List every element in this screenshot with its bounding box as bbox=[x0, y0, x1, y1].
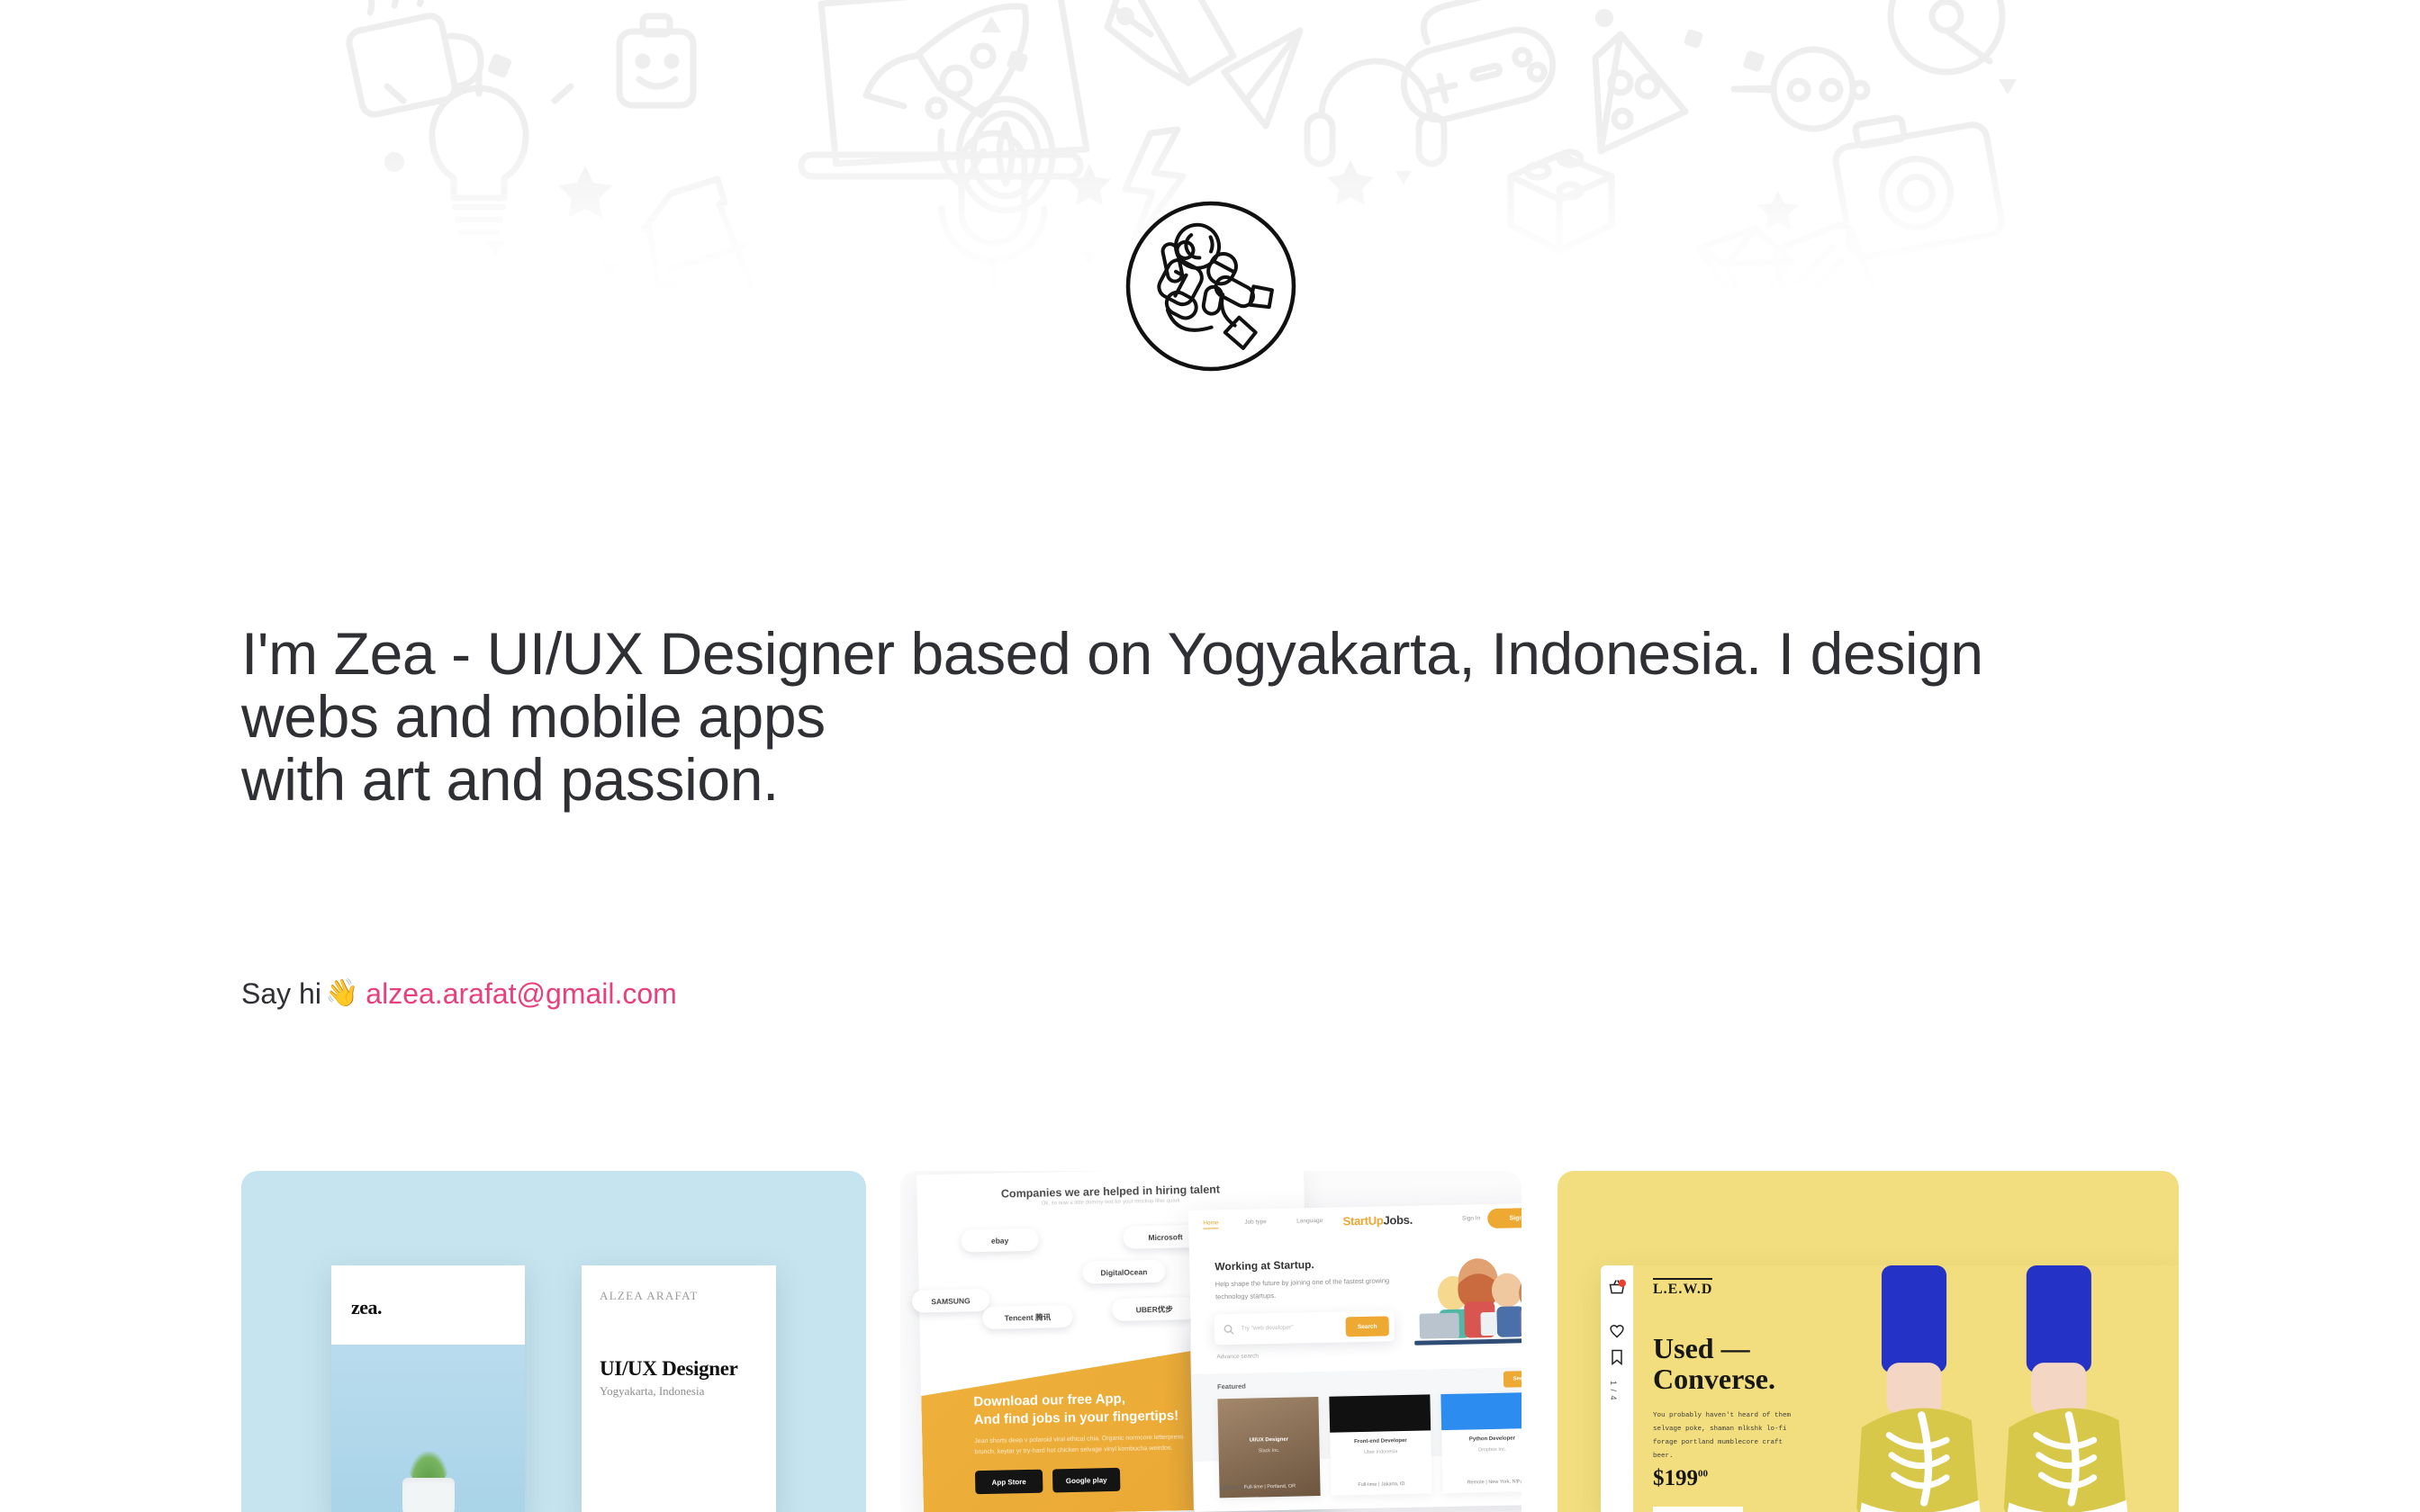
email-link[interactable]: alzea.arafat@gmail.com bbox=[366, 979, 677, 1008]
project-card-branding[interactable]: zea. ALZEA ARAFAT UI/UX Designer Yogyaka… bbox=[241, 1171, 866, 1512]
product-price: $19900 bbox=[1653, 1466, 1708, 1491]
card-location: Yogyakarta, Indonesia bbox=[600, 1384, 704, 1399]
business-card-front: zea. bbox=[331, 1265, 525, 1512]
logo-pill-samsung: SAMSUNG bbox=[912, 1289, 990, 1313]
job-meta: Full-time | Jakarta, ID bbox=[1331, 1480, 1431, 1488]
price-amount: $199 bbox=[1653, 1466, 1698, 1490]
nav-language[interactable]: Language bbox=[1296, 1218, 1323, 1225]
logo-pill-tencent: Tencent 腾讯 bbox=[982, 1305, 1073, 1329]
plant-photo bbox=[331, 1345, 525, 1512]
see-more-button[interactable]: See More bbox=[1503, 1371, 1522, 1388]
price-cents: 00 bbox=[1698, 1469, 1708, 1480]
google-play-button[interactable]: Google play bbox=[1052, 1468, 1121, 1493]
store-brand: L.E.W.D bbox=[1653, 1278, 1712, 1298]
search-button[interactable]: Search bbox=[1346, 1316, 1389, 1336]
search-icon bbox=[1224, 1324, 1234, 1335]
store-hero-stage: L.E.W.D Used — Converse. You probably ha… bbox=[1633, 1265, 2179, 1512]
compass-icon bbox=[959, 99, 1052, 211]
heart-icon[interactable] bbox=[1608, 1321, 1626, 1339]
pizza-icon bbox=[1595, 34, 1685, 151]
page-title: I'm Zea - UI/UX Designer based on Yogyak… bbox=[241, 623, 2042, 812]
plant-leaves bbox=[409, 1451, 448, 1481]
download-heading: Download our free App, And find jobs in … bbox=[973, 1389, 1208, 1430]
job-company: Uber Indonesia bbox=[1331, 1448, 1431, 1455]
lego-head-icon bbox=[619, 16, 693, 105]
converse-shoes-photo bbox=[1804, 1265, 2179, 1512]
advance-search-toggle[interactable]: Advance search bbox=[1216, 1353, 1259, 1360]
lightbulb-icon bbox=[387, 74, 571, 232]
pencil-icon bbox=[1107, 0, 1233, 83]
store-side-rail: 1 / 4 bbox=[1601, 1265, 1633, 1512]
nav-job-type[interactable]: Job type bbox=[1244, 1219, 1267, 1226]
business-card-back: ALZEA ARAFAT UI/UX Designer Yogyakarta, … bbox=[582, 1265, 776, 1512]
microphone-icon bbox=[942, 133, 1044, 290]
pacman-icon bbox=[1734, 49, 1867, 129]
smartphone-icon bbox=[1770, 221, 1897, 297]
job-thumbnail bbox=[1329, 1394, 1431, 1432]
store-browser-window: 1 / 4 L.E.W.D Used — Converse. You proba… bbox=[1601, 1265, 2179, 1512]
logo-pill-uber: UBER优步 bbox=[1112, 1297, 1197, 1321]
project-card-lewd-store[interactable]: 1 / 4 L.E.W.D Used — Converse. You proba… bbox=[1558, 1171, 2179, 1512]
job-meta: Remote | New York, NY bbox=[1442, 1479, 1522, 1486]
site-logo-a: StartUp bbox=[1342, 1213, 1383, 1228]
astronaut-logo[interactable] bbox=[1124, 200, 1297, 373]
brand-mark: zea. bbox=[351, 1296, 382, 1319]
paper-plane-icon bbox=[1224, 31, 1300, 126]
portfolio-page: I'm Zea - UI/UX Designer based on Yogyak… bbox=[0, 0, 2420, 1512]
job-company: Dropbox Inc. bbox=[1442, 1446, 1522, 1453]
job-card[interactable]: Python Developer Dropbox Inc. Remote | N… bbox=[1440, 1392, 1522, 1493]
nav-home[interactable]: Home bbox=[1203, 1219, 1219, 1228]
team-illustration bbox=[1413, 1255, 1522, 1347]
add-to-cart-button[interactable]: ADD TO CART bbox=[1653, 1507, 1743, 1512]
job-title: Front-end Developer bbox=[1330, 1437, 1431, 1444]
popular-jobs-filter[interactable]: Popular jobs bbox=[1516, 1479, 1522, 1486]
featured-label: Featured bbox=[1217, 1382, 1246, 1391]
project-card-grid: zea. ALZEA ARAFAT UI/UX Designer Yogyaka… bbox=[0, 1171, 2420, 1512]
project-card-startupjobs[interactable]: Companies we are helped in hiring talent… bbox=[900, 1171, 1522, 1512]
headphones-icon bbox=[1307, 61, 1444, 164]
flask-icon bbox=[644, 179, 761, 297]
site-logo-b: Jobs. bbox=[1383, 1213, 1413, 1228]
gamepad-icon bbox=[1396, 0, 1560, 127]
job-thumbnail bbox=[1440, 1392, 1522, 1430]
lego-brick-icon bbox=[1511, 152, 1612, 250]
waving-hand-icon: 👋 bbox=[325, 980, 358, 1007]
site-hero-body: Help shape the future by joining one of … bbox=[1215, 1274, 1423, 1304]
laptop-icon bbox=[801, 0, 1103, 190]
sign-in-link[interactable]: Sign In bbox=[1462, 1215, 1480, 1221]
contact-line: Say hi 👋 alzea.arafat@gmail.com bbox=[241, 979, 677, 1008]
logo-pill-digitalocean: DigitalOcean bbox=[1082, 1260, 1166, 1284]
bookmark-icon[interactable] bbox=[1608, 1348, 1626, 1366]
product-description: You probably haven't heard of them selva… bbox=[1653, 1409, 1797, 1463]
site-logo[interactable]: StartUpJobs. bbox=[1342, 1213, 1413, 1228]
search-placeholder: Try "web developer" bbox=[1242, 1325, 1294, 1332]
basket-icon[interactable] bbox=[1608, 1278, 1626, 1296]
rocket-icon bbox=[866, 6, 1025, 185]
site-hero-heading: Working at Startup. bbox=[1215, 1258, 1314, 1273]
card-owner-name: ALZEA ARAFAT bbox=[600, 1289, 699, 1303]
plant-pot bbox=[402, 1478, 455, 1512]
app-store-button[interactable]: App Store bbox=[975, 1470, 1043, 1495]
job-card[interactable]: Front-end Developer Uber Indonesia Full-… bbox=[1329, 1394, 1431, 1495]
card-role: UI/UX Designer bbox=[600, 1357, 738, 1381]
cd-icon bbox=[1891, 0, 2002, 72]
job-search-bar[interactable]: Try "web developer" Search bbox=[1214, 1310, 1395, 1345]
camera-icon bbox=[1834, 117, 2004, 259]
say-hi-label: Say hi bbox=[241, 979, 321, 1008]
logo-pill-ebay: ebay bbox=[961, 1228, 1039, 1253]
slide-pagination: 1 / 4 bbox=[1609, 1381, 1618, 1401]
job-title: Python Developer bbox=[1441, 1435, 1522, 1443]
sign-up-button[interactable]: Sign up bbox=[1487, 1207, 1522, 1228]
coffee-mug-icon bbox=[347, 0, 485, 117]
startupjobs-site: Home Job type Language StartUpJobs. Sign… bbox=[1188, 1202, 1522, 1512]
diamond-icon bbox=[1698, 229, 1792, 297]
